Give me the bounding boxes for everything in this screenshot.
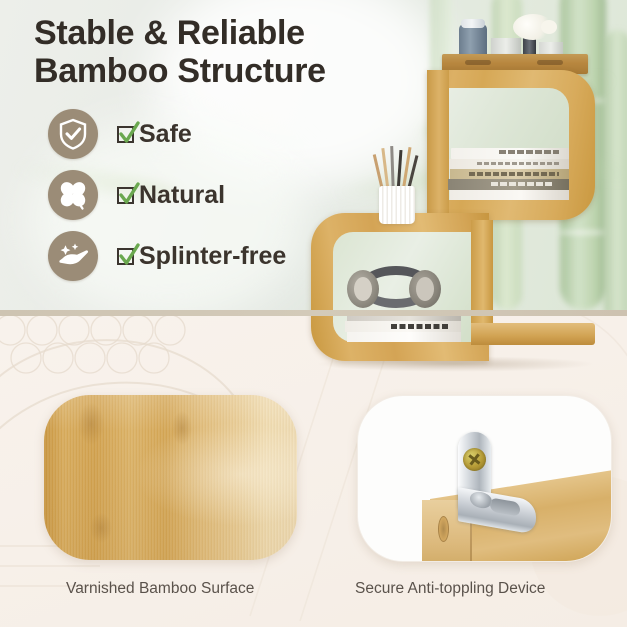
book-title <box>477 162 561 165</box>
caption-anti-toppling-device: Secure Anti-toppling Device <box>355 580 545 598</box>
anti-toppling-device-card <box>357 395 612 562</box>
polished-hand-icon <box>48 231 98 281</box>
clover-icon <box>48 170 98 220</box>
caption-varnished-bamboo-surface: Varnished Bamboo Surface <box>66 580 254 598</box>
book-title <box>391 324 449 329</box>
page-title: Stable & Reliable Bamboo Structure <box>34 14 326 91</box>
book-stack-upper <box>447 148 571 200</box>
ceramic-jar-lid <box>461 19 485 28</box>
shield-check-icon <box>48 109 98 159</box>
tray-items <box>455 16 565 58</box>
section-divider <box>0 310 627 316</box>
book-title <box>491 182 553 186</box>
feature-label-splinter-free: Splinter-free <box>139 242 286 271</box>
feature-list: Safe <box>48 104 286 287</box>
feature-label-safe: Safe <box>139 120 192 149</box>
screw-hole <box>438 516 449 542</box>
shelf-upper-left-panel <box>427 70 449 220</box>
product-image <box>305 8 595 373</box>
shelf-bottom-right-board <box>471 323 595 345</box>
book <box>450 190 569 200</box>
title-line-1: Stable & Reliable <box>34 14 305 52</box>
tray-slot <box>465 60 491 65</box>
pencils <box>375 146 417 190</box>
checkbox-natural[interactable] <box>117 185 138 206</box>
tray-slot-2 <box>537 60 563 65</box>
book-title <box>469 172 559 176</box>
book-title <box>499 150 559 154</box>
feature-item-natural: Natural <box>48 165 286 225</box>
product-infographic: Stable & Reliable Bamboo Structure Safe <box>0 0 627 627</box>
book <box>347 332 461 342</box>
varnished-bamboo-surface-card <box>44 395 297 560</box>
pencil-cup <box>379 186 415 224</box>
feature-label-natural: Natural <box>139 181 225 210</box>
feature-item-safe: Safe <box>48 104 286 164</box>
flower-bud <box>541 20 557 34</box>
feature-item-splinter-free: Splinter-free <box>48 226 286 286</box>
checkbox-safe[interactable] <box>117 124 138 145</box>
ceramic-jar <box>459 24 487 58</box>
checkbox-splinter-free[interactable] <box>117 246 138 267</box>
title-line-2: Bamboo Structure <box>34 52 326 90</box>
